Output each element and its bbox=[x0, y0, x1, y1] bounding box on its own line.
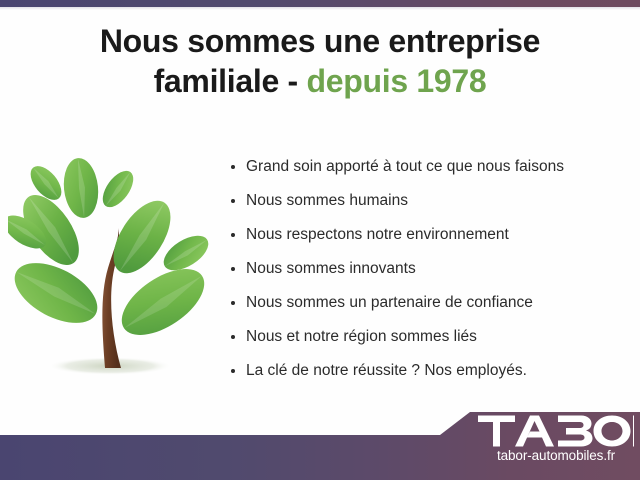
bullet-dot-icon bbox=[231, 369, 235, 373]
list-item-label: Nous sommes un partenaire de confiance bbox=[246, 294, 533, 311]
bullet-dot-icon bbox=[231, 233, 235, 237]
tree-icon bbox=[8, 150, 223, 395]
list-item-label: Nous sommes humains bbox=[246, 192, 408, 209]
list-item-label: Nous et notre région sommes liés bbox=[246, 328, 477, 345]
tabor-logo[interactable]: tabor-automobiles.fr bbox=[478, 412, 634, 474]
list-item: Grand soin apporté à tout ce que nous fa… bbox=[228, 150, 628, 184]
list-item: Nous et notre région sommes liés bbox=[228, 320, 628, 354]
tree-illustration bbox=[8, 150, 223, 395]
bullet-dot-icon bbox=[231, 301, 235, 305]
heading-accent-year: depuis 1978 bbox=[307, 63, 487, 99]
logo-tagline: tabor-automobiles.fr bbox=[478, 448, 634, 463]
heading-dash: - bbox=[288, 63, 298, 99]
top-accent-bar-shadow bbox=[0, 7, 640, 10]
benefits-list: Grand soin apporté à tout ce que nous fa… bbox=[228, 150, 628, 388]
list-item: Nous respectons notre environnement bbox=[228, 218, 628, 252]
page-title: Nous sommes une entreprise familiale - d… bbox=[0, 22, 640, 100]
list-item-label: Nous respectons notre environnement bbox=[246, 226, 509, 243]
list-item: Nous sommes un partenaire de confiance bbox=[228, 286, 628, 320]
top-accent-bar bbox=[0, 0, 640, 7]
bullet-dot-icon bbox=[231, 335, 235, 339]
bullet-dot-icon bbox=[231, 267, 235, 271]
bullet-dot-icon bbox=[231, 165, 235, 169]
list-item: Nous sommes humains bbox=[228, 184, 628, 218]
heading-line-1: Nous sommes une entreprise bbox=[100, 23, 540, 59]
list-item-label: Nous sommes innovants bbox=[246, 260, 416, 277]
tabor-wordmark-icon bbox=[478, 415, 634, 447]
list-item-label: La clé de notre réussite ? Nos employés. bbox=[246, 362, 527, 379]
bullet-dot-icon bbox=[231, 199, 235, 203]
slide-canvas: Nous sommes une entreprise familiale - d… bbox=[0, 0, 640, 480]
list-item-label: Grand soin apporté à tout ce que nous fa… bbox=[246, 158, 564, 175]
list-item: Nous sommes innovants bbox=[228, 252, 628, 286]
heading-line-2-prefix: familiale bbox=[154, 63, 279, 99]
list-item: La clé de notre réussite ? Nos employés. bbox=[228, 354, 628, 388]
heading-line-2: familiale - depuis 1978 bbox=[0, 62, 640, 100]
